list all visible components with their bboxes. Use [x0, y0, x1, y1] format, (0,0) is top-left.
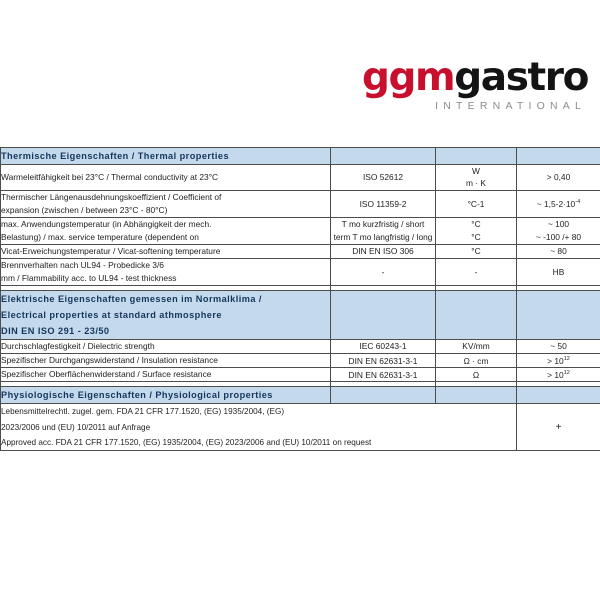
properties-sheet: Thermische Eigenschaften / Thermal prope… [0, 147, 600, 451]
row-label-insulation-resistance: Spezifischer Durchgangswiderstand / Insu… [1, 354, 331, 368]
row-label-vicat-softening: Vicat-Erweichungstemperatur / Vicat-soft… [1, 244, 331, 258]
value-exponent: 12 [564, 356, 570, 362]
section-header-spacer-unit [436, 387, 517, 404]
section-header-thermal: Thermische Eigenschaften / Thermal prope… [1, 148, 600, 165]
row-label-thermal-conductivity: Warmeleitfähigkeit bei 23°C / Thermal co… [1, 165, 331, 191]
unit-fraction: W m · K [466, 165, 486, 189]
section-header-physiological: Physiologische Eigenschaften / Physiolog… [1, 387, 600, 404]
section-title-electrical: Elektrische Eigenschaften gemessen im No… [1, 291, 331, 340]
row-value-insulation-resistance: > 1012 [517, 354, 600, 368]
row-unit-expansion-coefficient: °C-1 [436, 190, 517, 217]
row-label-dielectric-strength: Durchschlagfestigkeit / Dielectric stren… [1, 340, 331, 354]
section-header-spacer-unit [436, 291, 517, 340]
row-standard-surface-resistance: DIN EN 62631-3-1 [331, 368, 436, 382]
value-exponent: -4 [575, 199, 580, 205]
table-row: Lebensmittelrechtl. zugel. gem. FDA 21 C… [1, 404, 600, 451]
row-value-vicat-softening: ~ 80 [517, 244, 600, 258]
section-header-spacer-standard [331, 291, 436, 340]
row-value-expansion-coefficient: ~ 1,5-2·10-4 [517, 190, 600, 217]
row-unit-max-service-temperature: °C °C [436, 217, 517, 244]
row-value-surface-resistance: > 1012 [517, 368, 600, 382]
section-header-spacer-value [517, 291, 600, 340]
value-exponent: 12 [564, 370, 570, 376]
section-header-spacer-unit [436, 148, 517, 165]
row-standard-max-service-temperature: T mo kurzfristig / short term T mo langf… [331, 217, 436, 244]
row-standard-insulation-resistance: DIN EN 62631-3-1 [331, 354, 436, 368]
table-row: max. Anwendungstemperatur (in Abhängigke… [1, 217, 600, 244]
row-unit-thermal-conductivity: W m · K [436, 165, 517, 191]
row-value-dielectric-strength: ~ 50 [517, 340, 600, 354]
row-standard-dielectric-strength: IEC 60243-1 [331, 340, 436, 354]
row-value-max-service-temperature: ~ 100 ~ -100 /+ 80 [517, 217, 600, 244]
row-unit-surface-resistance: Ω [436, 368, 517, 382]
row-unit-flammability-ul94: - [436, 258, 517, 285]
logo-gastro-text: gastro [454, 55, 588, 100]
table-row: Spezifischer Durchgangswiderstand / Insu… [1, 354, 600, 368]
table-row: Thermischer Längenausdehnungskoeffizient… [1, 190, 600, 217]
row-standard-flammability-ul94: - [331, 258, 436, 285]
table-row: Brennverhalten nach UL94 - Probedicke 3/… [1, 258, 600, 285]
table-row: Warmeleitfähigkeit bei 23°C / Thermal co… [1, 165, 600, 191]
row-unit-dielectric-strength: KV/mm [436, 340, 517, 354]
technical-properties-table: Thermische Eigenschaften / Thermal prope… [0, 147, 600, 451]
section-header-spacer-standard [331, 387, 436, 404]
section-header-spacer-standard [331, 148, 436, 165]
logo-wordmark: ggmgastro [362, 58, 588, 97]
row-value-food-approval: + [517, 404, 600, 451]
row-unit-insulation-resistance: Ω · cm [436, 354, 517, 368]
table-row: Vicat-Erweichungstemperatur / Vicat-soft… [1, 244, 600, 258]
ggm-gastro-logo: ggmgastro INTERNATIONAL [362, 58, 588, 112]
row-standard-expansion-coefficient: ISO 11359-2 [331, 190, 436, 217]
row-label-max-service-temperature: max. Anwendungstemperatur (in Abhängigke… [1, 217, 331, 244]
row-standard-thermal-conductivity: ISO 52612 [331, 165, 436, 191]
row-value-flammability-ul94: HB [517, 258, 600, 285]
section-header-spacer-value [517, 148, 600, 165]
logo-subtitle: INTERNATIONAL [362, 101, 586, 112]
row-label-surface-resistance: Spezifischer Oberflächenwiderstand / Sur… [1, 368, 331, 382]
row-label-food-approval: Lebensmittelrechtl. zugel. gem. FDA 21 C… [1, 404, 517, 451]
row-standard-vicat-softening: DIN EN ISO 306 [331, 244, 436, 258]
row-label-expansion-coefficient: Thermischer Längenausdehnungskoeffizient… [1, 190, 331, 217]
row-value-thermal-conductivity: > 0,40 [517, 165, 600, 191]
section-title-physiological: Physiologische Eigenschaften / Physiolog… [1, 387, 331, 404]
section-header-electrical: Elektrische Eigenschaften gemessen im No… [1, 291, 600, 340]
table-row: Spezifischer Oberflächenwiderstand / Sur… [1, 368, 600, 382]
section-title-thermal: Thermische Eigenschaften / Thermal prope… [1, 148, 331, 165]
table-row: Durchschlagfestigkeit / Dielectric stren… [1, 340, 600, 354]
logo-ggm-text: ggm [362, 55, 454, 100]
logo-header: ggmgastro INTERNATIONAL [0, 0, 600, 147]
row-label-flammability-ul94: Brennverhalten nach UL94 - Probedicke 3/… [1, 258, 331, 285]
section-header-spacer-value [517, 387, 600, 404]
row-unit-vicat-softening: °C [436, 244, 517, 258]
